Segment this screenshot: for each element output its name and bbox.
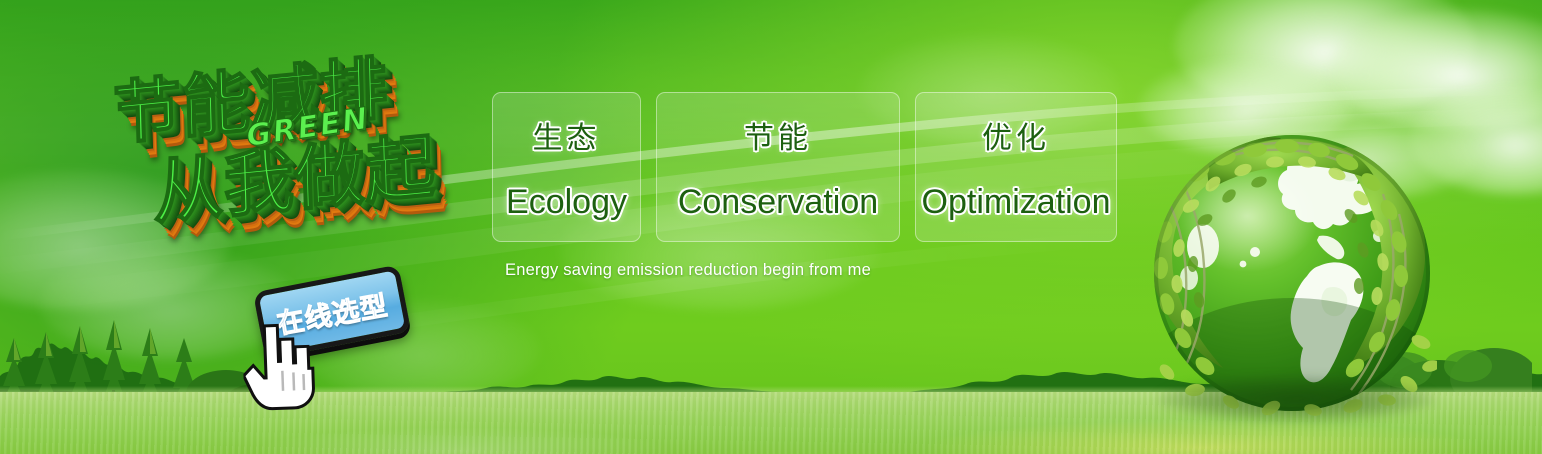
feature-card-ecology[interactable]: 生态 Ecology	[492, 92, 641, 242]
feature-card-conservation-en: Conservation	[678, 183, 878, 222]
leafy-earth-globe	[1147, 128, 1437, 418]
feature-card-conservation-cn: 节能	[744, 113, 812, 157]
headline-3d-text: 节能减排 GREEN 从我做起	[91, 24, 490, 274]
banner-tagline: Energy saving emission reduction begin f…	[505, 261, 871, 280]
globe-shadow	[1157, 376, 1435, 422]
eco-promo-banner: 节能减排 GREEN 从我做起 在线选型 生态 Ecology 节能 Conse…	[0, 0, 1542, 454]
feature-cards: 生态 Ecology 节能 Conservation 优化 Optimizati…	[492, 92, 1117, 242]
online-selection-button-label: 在线选型	[273, 283, 390, 341]
feature-card-conservation[interactable]: 节能 Conservation	[656, 92, 900, 242]
feature-card-ecology-cn: 生态	[533, 113, 601, 157]
feature-card-optimization-cn: 优化	[982, 113, 1050, 157]
globe-illustration	[1147, 128, 1437, 418]
feature-card-optimization[interactable]: 优化 Optimization	[915, 92, 1117, 242]
feature-card-ecology-en: Ecology	[506, 183, 627, 222]
feature-card-optimization-en: Optimization	[922, 183, 1111, 222]
